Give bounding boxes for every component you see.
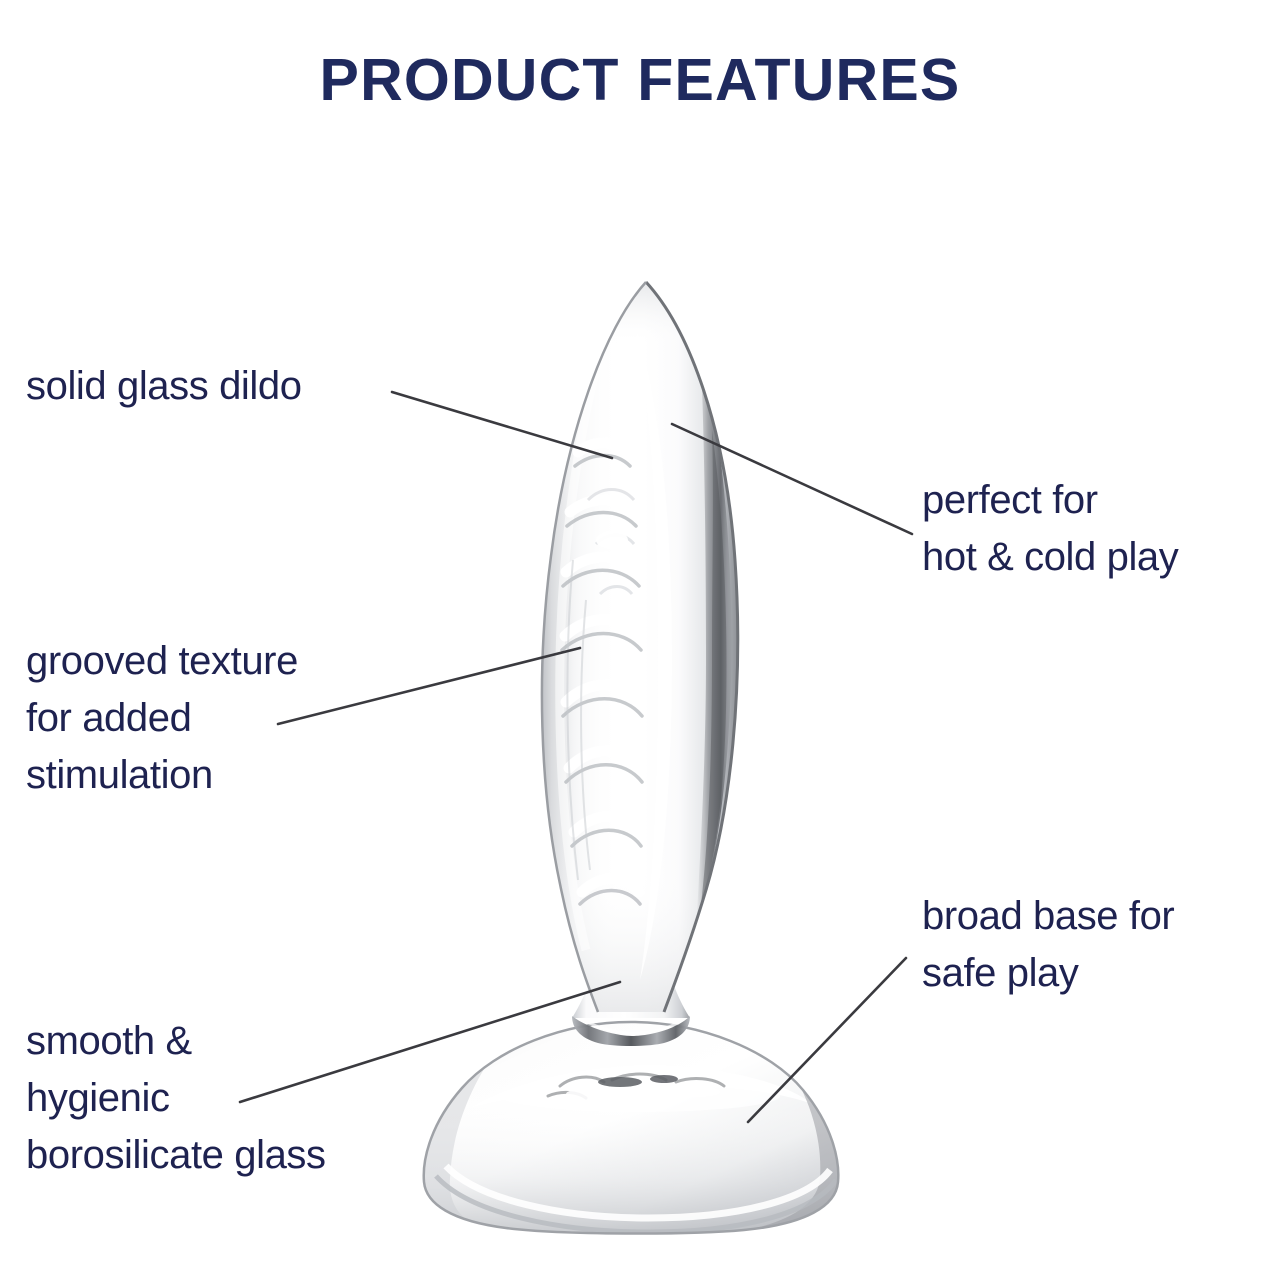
infographic-canvas: PRODUCT FEATURES solid glass dildo groov… xyxy=(0,0,1280,1280)
callout-label-hot-cold-play: perfect for hot & cold play xyxy=(922,472,1178,586)
callout-label-solid-glass: solid glass dildo xyxy=(26,358,302,415)
product-shaft xyxy=(530,270,750,1020)
callout-label-smooth-hygienic: smooth & hygienic borosilicate glass xyxy=(26,1013,326,1183)
product-base xyxy=(420,1022,845,1240)
callout-label-broad-base: broad base for safe play xyxy=(922,888,1174,1002)
page-title: PRODUCT FEATURES xyxy=(0,46,1280,114)
callout-label-grooved-texture: grooved texture for added stimulation xyxy=(26,633,298,803)
